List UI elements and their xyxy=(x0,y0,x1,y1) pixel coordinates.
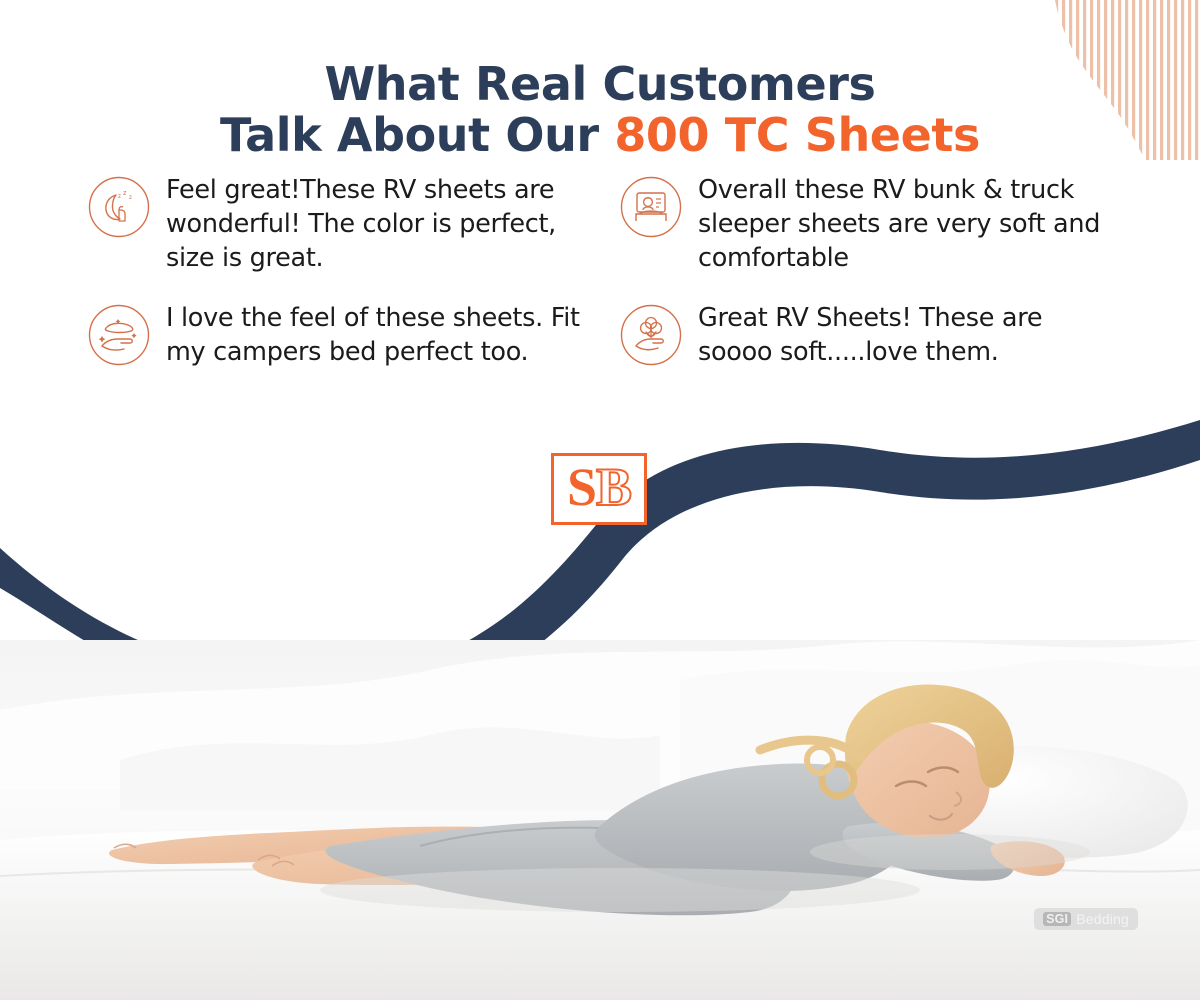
svg-text:z: z xyxy=(129,195,132,201)
logo-letter-s: S xyxy=(567,457,596,517)
logo-letter-b: B xyxy=(596,457,631,517)
moon-sleep-icon: z z z xyxy=(88,176,150,238)
headline-prefix: Talk About Our xyxy=(220,108,614,162)
watermark: SGI Bedding xyxy=(1034,908,1138,930)
testimonial-list: z z z Feel great!These RV sheets are won… xyxy=(88,172,1118,370)
promo-banner: What Real Customers Talk About Our 800 T… xyxy=(0,0,1200,1000)
testimonial-text: I love the feel of these sheets. Fit my … xyxy=(166,300,586,370)
testimonial-text: Great RV Sheets! These are soooo soft...… xyxy=(698,300,1118,370)
page-title: What Real Customers Talk About Our 800 T… xyxy=(0,59,1200,162)
sb-logo: SB xyxy=(551,453,647,525)
hand-soft-fabric-icon xyxy=(88,304,150,366)
testimonial-text: Feel great!These RV sheets are wonderful… xyxy=(166,172,586,276)
headline-line-2: Talk About Our 800 TC Sheets xyxy=(0,110,1200,162)
testimonial-item: Great RV Sheets! These are soooo soft...… xyxy=(620,300,1118,370)
svg-text:z: z xyxy=(118,194,121,200)
testimonial-item: I love the feel of these sheets. Fit my … xyxy=(88,300,586,370)
headline-line-1: What Real Customers xyxy=(0,59,1200,111)
testimonial-item: Overall these RV bunk & truck sleeper sh… xyxy=(620,172,1118,276)
watermark-name: Bedding xyxy=(1076,911,1129,927)
headline-accent: 800 TC Sheets xyxy=(614,108,980,162)
svg-text:z: z xyxy=(123,190,127,197)
sb-logo-text: SB xyxy=(567,460,631,514)
testimonial-item: z z z Feel great!These RV sheets are won… xyxy=(88,172,586,276)
hero-photo: SGI Bedding xyxy=(0,640,1200,1000)
watermark-tag: SGI xyxy=(1043,912,1071,926)
testimonial-text: Overall these RV bunk & truck sleeper sh… xyxy=(698,172,1118,276)
hand-cotton-boll-icon xyxy=(620,304,682,366)
person-sleeping-in-bed-icon xyxy=(620,176,682,238)
